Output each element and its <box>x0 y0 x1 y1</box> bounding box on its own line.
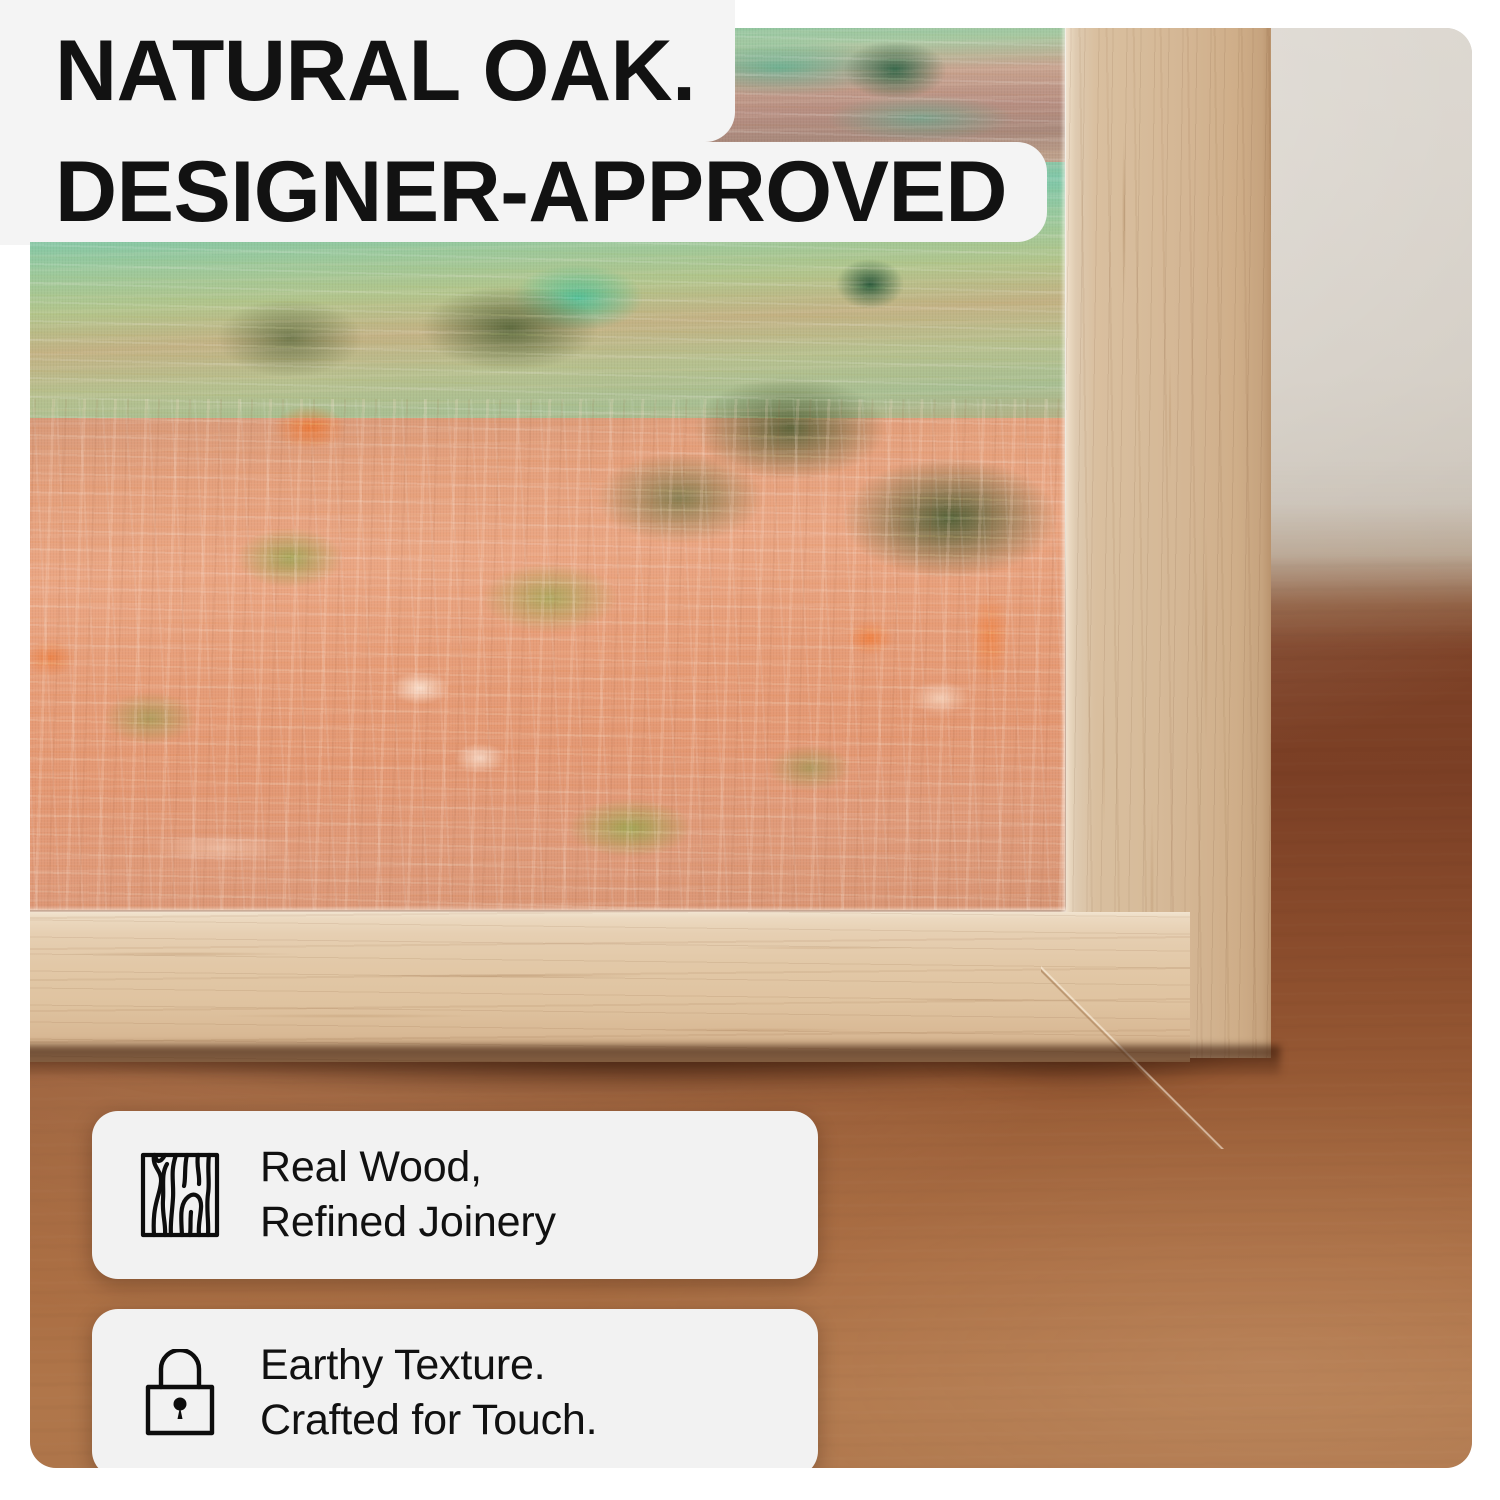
headline-line-2: DESIGNER-APPROVED <box>30 142 1047 242</box>
frame-rail-right-grain <box>1066 28 1271 1058</box>
badge-label: Earthy Texture. Crafted for Touch. <box>260 1338 597 1448</box>
feature-badge-real-wood[interactable]: Real Wood, Refined Joinery <box>92 1111 818 1279</box>
product-image-canvas: Real Wood, Refined Joinery Earthy Textur… <box>0 0 1500 1500</box>
badge-line-1: Real Wood, <box>260 1140 556 1195</box>
product-photo: Real Wood, Refined Joinery Earthy Textur… <box>30 28 1472 1468</box>
badge-label: Real Wood, Refined Joinery <box>260 1140 556 1250</box>
frame-rail-bottom-grain <box>30 912 1190 1062</box>
frame-rail-right <box>1066 28 1271 1058</box>
badge-line-2: Refined Joinery <box>260 1195 556 1250</box>
headline-line-1: NATURAL OAK. <box>30 0 735 142</box>
headline-left-gutter <box>0 0 30 245</box>
frame-base-contact-shadow <box>30 1046 1280 1076</box>
badge-line-1: Earthy Texture. <box>260 1338 597 1393</box>
feature-badge-earthy-texture[interactable]: Earthy Texture. Crafted for Touch. <box>92 1309 818 1468</box>
padlock-icon <box>134 1347 226 1439</box>
wood-grain-icon <box>134 1149 226 1241</box>
badge-line-2: Crafted for Touch. <box>260 1393 597 1448</box>
frame-rail-bottom <box>30 912 1190 1062</box>
